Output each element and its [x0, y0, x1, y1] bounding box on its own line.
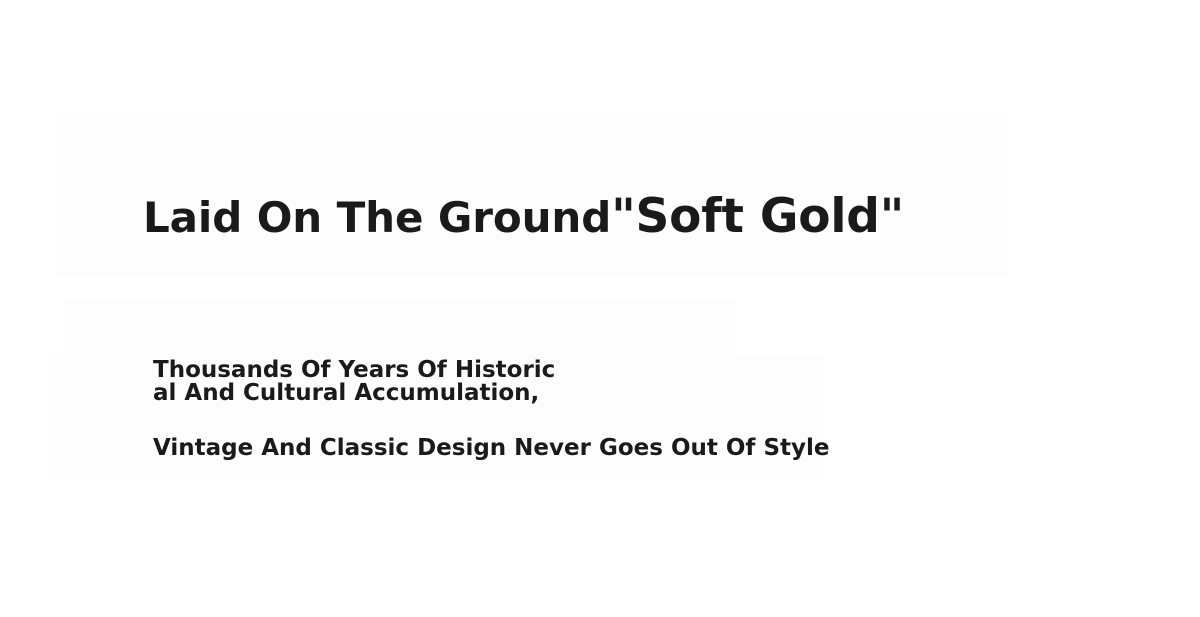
page-title: Laid On The Ground"Soft Gold": [143, 193, 904, 240]
page-title-main: Laid On The Ground: [143, 193, 611, 242]
body-paragraph-secondary: Vintage And Classic Design Never Goes Ou…: [153, 437, 873, 460]
page-title-quoted: "Soft Gold": [611, 189, 904, 244]
page-canvas: Laid On The Ground"Soft Gold" Thousands …: [0, 0, 1200, 617]
body-paragraph-primary: Thousands Of Years Of Historic al And Cu…: [153, 359, 583, 405]
